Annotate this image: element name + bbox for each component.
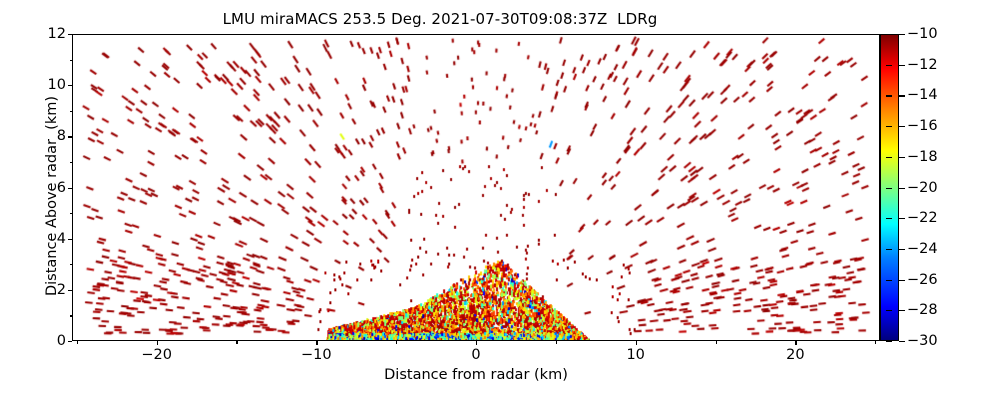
y-tick [68, 34, 72, 35]
colorbar-tick [899, 341, 905, 342]
y-tick-minor [70, 264, 73, 265]
colorbar-tick [886, 218, 892, 219]
plot-title: LMU miraMACS 253.5 Deg. 2021-07-30T09:08… [0, 10, 880, 28]
x-axis-label: Distance from radar (km) [72, 367, 880, 383]
y-tick-minor [70, 162, 73, 163]
colorbar-tick [886, 95, 892, 96]
colorbar-tick [886, 65, 892, 66]
colorbar-tick [899, 249, 905, 250]
colorbar-tick-label: −18 [907, 149, 938, 165]
x-tick-label: 10 [626, 347, 644, 363]
colorbar-tick-label: −16 [907, 118, 938, 134]
colorbar-tick [899, 34, 905, 35]
x-tick [476, 341, 477, 345]
radar-rhi-figure: LMU miraMACS 253.5 Deg. 2021-07-30T09:08… [0, 0, 1000, 400]
x-tick [157, 341, 158, 345]
y-tick [68, 85, 72, 86]
x-tick [636, 341, 637, 345]
colorbar-tick [899, 65, 905, 66]
colorbar-tick [899, 310, 905, 311]
y-tick-minor [70, 111, 73, 112]
colorbar-tick-label: −10 [907, 26, 938, 42]
colorbar-tick [886, 34, 892, 35]
colorbar-tick [886, 126, 892, 127]
colorbar-tick [886, 157, 892, 158]
colorbar-tick [899, 95, 905, 96]
x-tick-minor [716, 341, 717, 344]
colorbar-tick [886, 341, 892, 342]
x-tick-label: −20 [141, 347, 172, 363]
colorbar-tick [899, 188, 905, 189]
x-tick-label: 0 [471, 347, 480, 363]
y-tick-minor [70, 60, 73, 61]
y-tick-label: 12 [48, 26, 66, 42]
colorbar-tick [886, 310, 892, 311]
x-tick-minor [396, 341, 397, 344]
y-axis-label: Distance Above radar (km) [44, 46, 60, 346]
colorbar-tick-label: −14 [907, 87, 938, 103]
y-tick [68, 188, 72, 189]
x-tick-label: 20 [786, 347, 804, 363]
y-tick [68, 341, 72, 342]
y-tick [68, 136, 72, 137]
y-tick [68, 239, 72, 240]
colorbar-tick [886, 280, 892, 281]
colorbar-tick-label: −22 [907, 210, 938, 226]
y-tick-minor [70, 213, 73, 214]
colorbar-tick-label: −30 [907, 333, 938, 349]
colorbar-tick-label: −12 [907, 57, 938, 73]
x-tick-minor [236, 341, 237, 344]
scatter-data-layer [73, 35, 879, 340]
colorbar-tick [899, 280, 905, 281]
x-tick [795, 341, 796, 345]
colorbar-tick [886, 249, 892, 250]
x-tick-minor [875, 341, 876, 344]
colorbar-tick-label: −24 [907, 241, 938, 257]
colorbar-tick [886, 188, 892, 189]
colorbar-tick [899, 218, 905, 219]
colorbar-tick-label: −26 [907, 272, 938, 288]
colorbar-tick [899, 126, 905, 127]
colorbar-tick [899, 157, 905, 158]
y-tick [68, 290, 72, 291]
colorbar-tick-label: −20 [907, 180, 938, 196]
plot-axes [72, 34, 880, 341]
x-tick-minor [556, 341, 557, 344]
y-tick-minor [70, 315, 73, 316]
x-tick [316, 341, 317, 345]
x-tick-label: −10 [301, 347, 332, 363]
x-tick-minor [77, 341, 78, 344]
colorbar-tick-label: −28 [907, 302, 938, 318]
